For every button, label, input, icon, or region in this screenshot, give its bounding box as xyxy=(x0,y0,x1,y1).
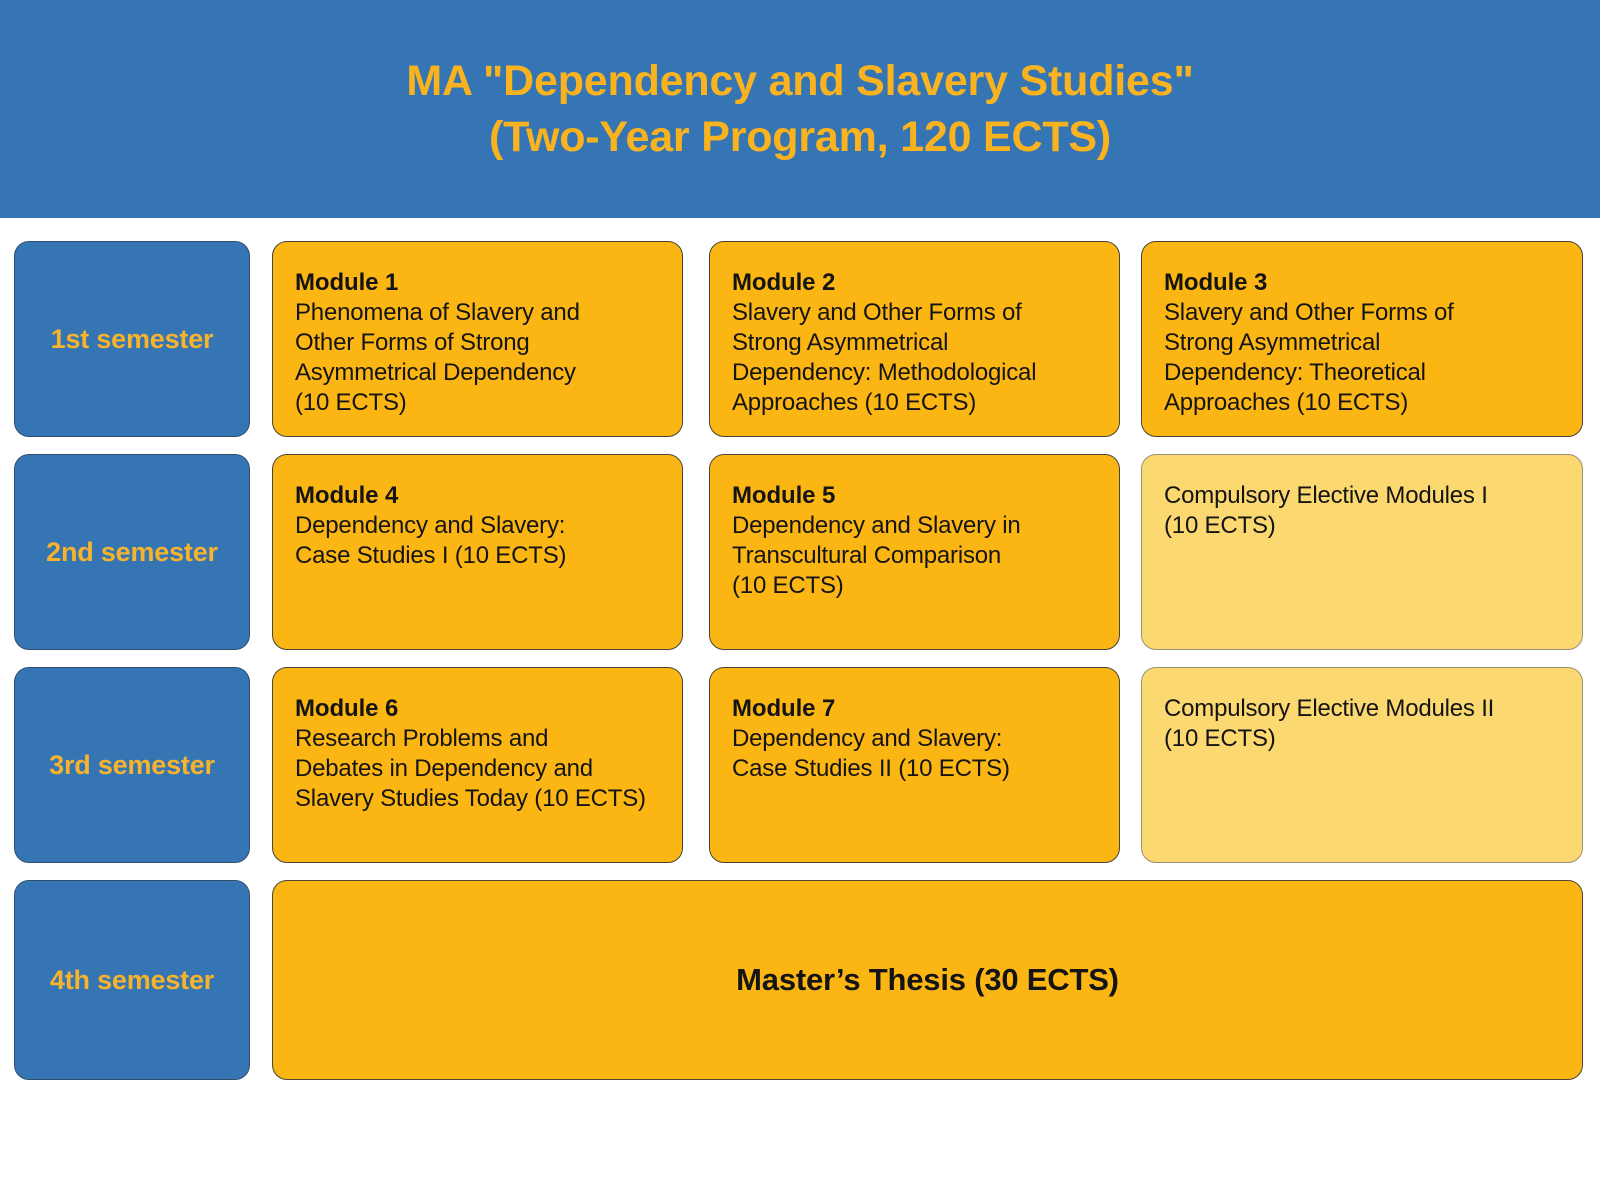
module-description: Dependency and Slavery in Transcultural … xyxy=(732,511,1097,601)
semester-card-3[interactable]: 3rd semester xyxy=(14,667,250,863)
module-description: Slavery and Other Forms of Strong Asymme… xyxy=(732,298,1097,418)
semester-card-2[interactable]: 2nd semester xyxy=(14,454,250,650)
module-card-1[interactable]: Module 1 Phenomena of Slavery and Other … xyxy=(272,241,683,437)
module-heading: Module 5 xyxy=(732,481,1097,511)
module-card-5[interactable]: Module 5 Dependency and Slavery in Trans… xyxy=(709,454,1120,650)
semester-label-cell-1: 1st semester xyxy=(14,241,250,437)
semester-label-4: 4th semester xyxy=(50,965,214,996)
elective-description: Compulsory Elective Modules II (10 ECTS) xyxy=(1164,694,1560,754)
module-description: Dependency and Slavery: Case Studies I (… xyxy=(295,511,660,571)
semester-label-3: 3rd semester xyxy=(49,750,215,781)
compulsory-elective-card-2[interactable]: Compulsory Elective Modules II (10 ECTS) xyxy=(1141,667,1583,863)
program-structure-diagram: MA "Dependency and Slavery Studies" (Two… xyxy=(0,0,1600,1200)
semester-card-4[interactable]: 4th semester xyxy=(14,880,250,1080)
masters-thesis-card[interactable]: Master’s Thesis (30 ECTS) xyxy=(272,880,1583,1080)
semester-label-cell-3: 3rd semester xyxy=(14,667,250,863)
module-cell-1-3: Module 3 Slavery and Other Forms of Stro… xyxy=(1141,241,1583,437)
module-cell-2-2: Module 5 Dependency and Slavery in Trans… xyxy=(709,454,1120,650)
semester-row-1: 1st semester Module 1 Phenomena of Slave… xyxy=(0,241,1600,437)
module-cell-1-2: Module 2 Slavery and Other Forms of Stro… xyxy=(709,241,1120,437)
module-description: Research Problems and Debates in Depende… xyxy=(295,724,660,814)
module-description: Phenomena of Slavery and Other Forms of … xyxy=(295,298,660,418)
module-cell-1-1: Module 1 Phenomena of Slavery and Other … xyxy=(272,241,683,437)
module-heading: Module 6 xyxy=(295,694,660,724)
module-card-2[interactable]: Module 2 Slavery and Other Forms of Stro… xyxy=(709,241,1120,437)
semester-label-1: 1st semester xyxy=(51,324,214,355)
semester-row-2: 2nd semester Module 4 Dependency and Sla… xyxy=(0,454,1600,650)
module-card-3[interactable]: Module 3 Slavery and Other Forms of Stro… xyxy=(1141,241,1583,437)
semester-row-4: 4th semester Master’s Thesis (30 ECTS) xyxy=(0,880,1600,1080)
semester-label-cell-2: 2nd semester xyxy=(14,454,250,650)
elective-cell-2-3: Compulsory Elective Modules I (10 ECTS) xyxy=(1141,454,1583,650)
module-card-4[interactable]: Module 4 Dependency and Slavery: Case St… xyxy=(272,454,683,650)
semester-grid: 1st semester Module 1 Phenomena of Slave… xyxy=(0,218,1600,1200)
module-card-6[interactable]: Module 6 Research Problems and Debates i… xyxy=(272,667,683,863)
header-banner: MA "Dependency and Slavery Studies" (Two… xyxy=(0,0,1600,218)
elective-description: Compulsory Elective Modules I (10 ECTS) xyxy=(1164,481,1560,541)
thesis-cell: Master’s Thesis (30 ECTS) xyxy=(272,880,1583,1080)
module-cell-2-1: Module 4 Dependency and Slavery: Case St… xyxy=(272,454,683,650)
page-title-line-2: (Two-Year Program, 120 ECTS) xyxy=(489,109,1111,165)
module-heading: Module 7 xyxy=(732,694,1097,724)
compulsory-elective-card-1[interactable]: Compulsory Elective Modules I (10 ECTS) xyxy=(1141,454,1583,650)
module-cell-3-1: Module 6 Research Problems and Debates i… xyxy=(272,667,683,863)
semester-label-cell-4: 4th semester xyxy=(14,880,250,1080)
module-description: Slavery and Other Forms of Strong Asymme… xyxy=(1164,298,1560,418)
semester-card-1[interactable]: 1st semester xyxy=(14,241,250,437)
semester-label-2: 2nd semester xyxy=(46,537,218,568)
module-heading: Module 3 xyxy=(1164,268,1560,298)
module-card-7[interactable]: Module 7 Dependency and Slavery: Case St… xyxy=(709,667,1120,863)
module-description: Dependency and Slavery: Case Studies II … xyxy=(732,724,1097,784)
module-heading: Module 1 xyxy=(295,268,660,298)
semester-row-3: 3rd semester Module 6 Research Problems … xyxy=(0,667,1600,863)
elective-cell-3-3: Compulsory Elective Modules II (10 ECTS) xyxy=(1141,667,1583,863)
page-title-line-1: MA "Dependency and Slavery Studies" xyxy=(406,53,1193,109)
module-heading: Module 4 xyxy=(295,481,660,511)
module-cell-3-2: Module 7 Dependency and Slavery: Case St… xyxy=(709,667,1120,863)
masters-thesis-label: Master’s Thesis (30 ECTS) xyxy=(736,962,1119,998)
module-heading: Module 2 xyxy=(732,268,1097,298)
